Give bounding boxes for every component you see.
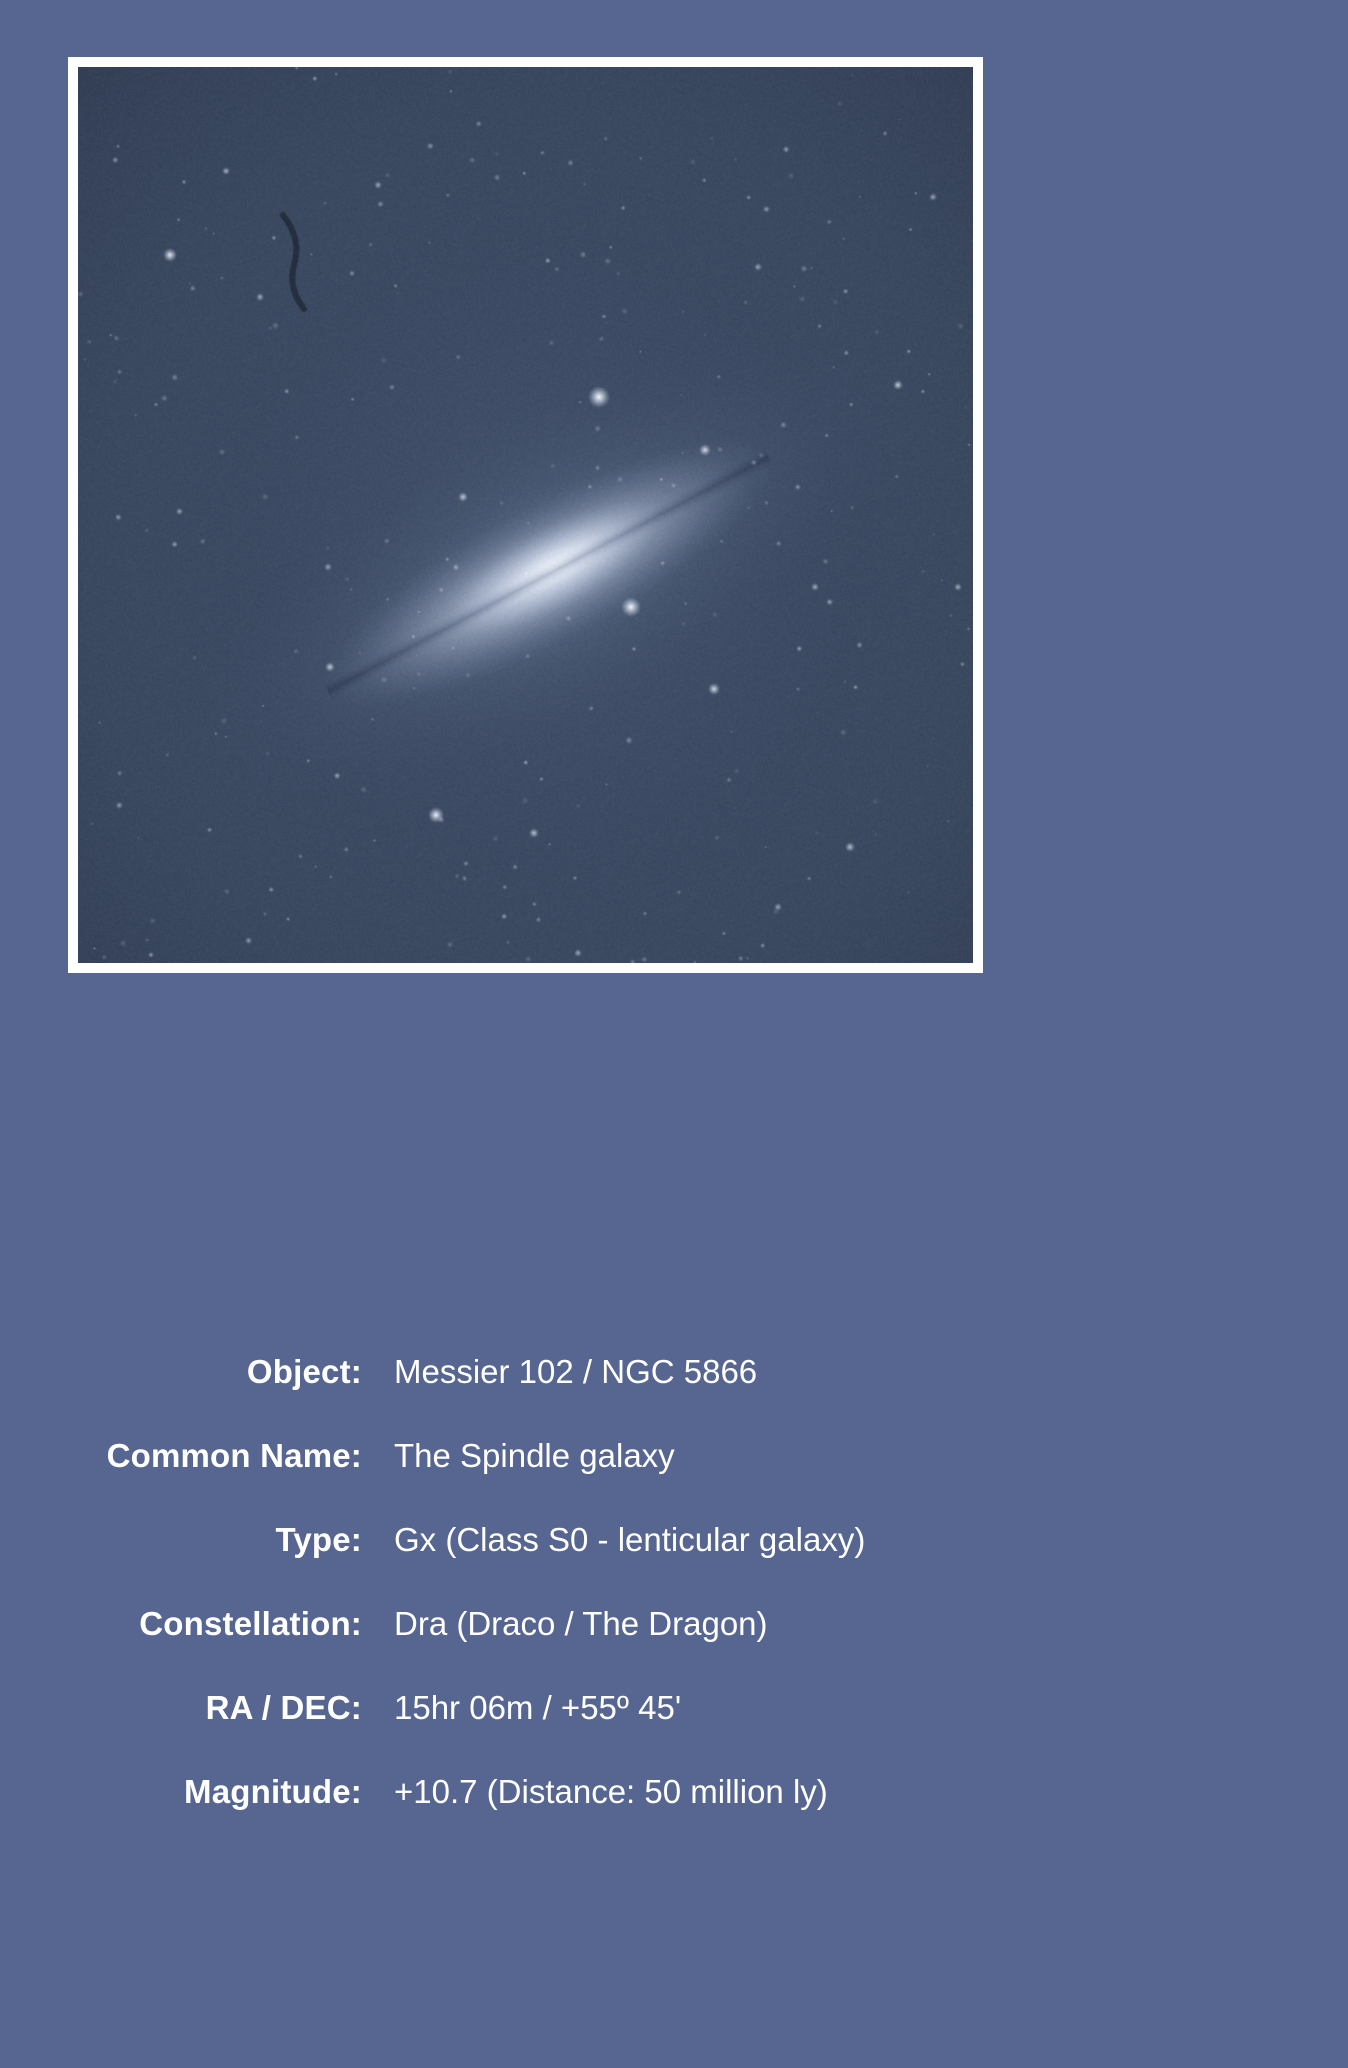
object-info-table: Object: Messier 102 / NGC 5866 Common Na… <box>0 1330 1348 1834</box>
info-label-constellation: Constellation: <box>0 1582 362 1666</box>
astro-object-card: Object: Messier 102 / NGC 5866 Common Na… <box>0 0 1348 2068</box>
image-frame <box>68 57 983 973</box>
info-row-magnitude: Magnitude: +10.7 (Distance: 50 million l… <box>0 1750 1348 1834</box>
galaxy-photograph <box>78 67 973 963</box>
info-row-common-name: Common Name: The Spindle galaxy <box>0 1414 1348 1498</box>
info-label-magnitude: Magnitude: <box>0 1750 362 1834</box>
info-label-object: Object: <box>0 1330 362 1414</box>
info-label-type: Type: <box>0 1498 362 1582</box>
info-row-object: Object: Messier 102 / NGC 5866 <box>0 1330 1348 1414</box>
info-row-ra-dec: RA / DEC: 15hr 06m / +55º 45' <box>0 1666 1348 1750</box>
info-value-common-name: The Spindle galaxy <box>394 1414 675 1498</box>
info-value-ra-dec: 15hr 06m / +55º 45' <box>394 1666 681 1750</box>
info-row-type: Type: Gx (Class S0 - lenticular galaxy) <box>0 1498 1348 1582</box>
info-value-object: Messier 102 / NGC 5866 <box>394 1330 757 1414</box>
info-label-common-name: Common Name: <box>0 1414 362 1498</box>
info-label-ra-dec: RA / DEC: <box>0 1666 362 1750</box>
info-value-constellation: Dra (Draco / The Dragon) <box>394 1582 768 1666</box>
info-value-type: Gx (Class S0 - lenticular galaxy) <box>394 1498 865 1582</box>
info-value-magnitude: +10.7 (Distance: 50 million ly) <box>394 1750 828 1834</box>
info-row-constellation: Constellation: Dra (Draco / The Dragon) <box>0 1582 1348 1666</box>
